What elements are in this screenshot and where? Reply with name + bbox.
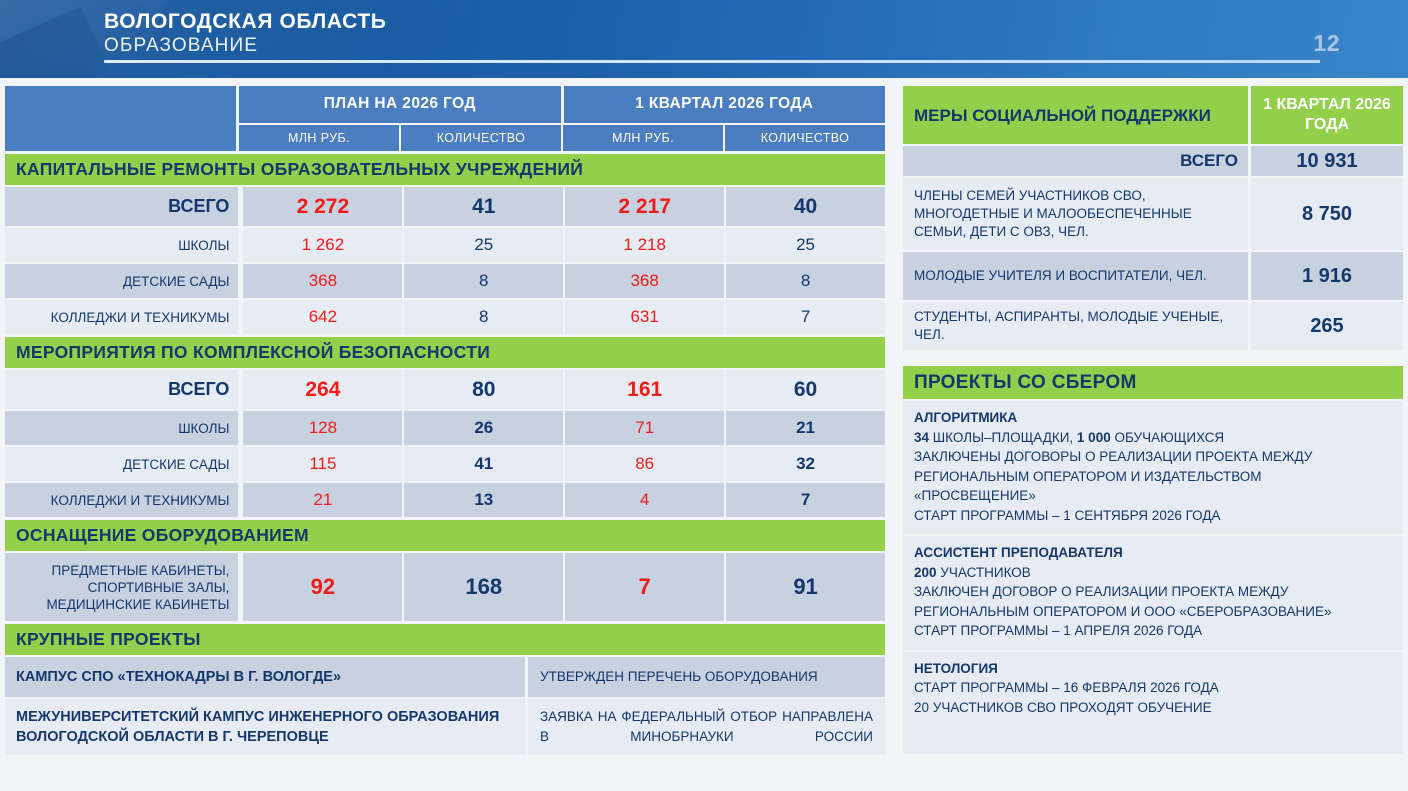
row-label: ШКОЛЫ: [5, 228, 238, 262]
project-name: МЕЖУНИВЕРСИТЕТСКИЙ КАМПУС ИНЖЕНЕРНОГО ОБ…: [5, 699, 525, 755]
row-value: 8 750: [1251, 178, 1403, 250]
sber-project-line: СТАРТ ПРОГРАММЫ – 1 СЕНТЯБРЯ 2026 ГОДА: [914, 506, 1392, 526]
cell-q1-qty: 7: [726, 300, 885, 334]
sber-project-name: АЛГОРИТМИКА: [914, 408, 1392, 428]
sber-stat-schools: 34: [914, 430, 929, 445]
cell-q1-qty: 32: [726, 447, 885, 481]
cell-q1-mln: 161: [565, 370, 724, 409]
table-row: ШКОЛЫ 1 262 25 1 218 25: [5, 228, 885, 262]
cell-plan-qty: 80: [404, 370, 563, 409]
right-panel: МЕРЫ СОЦИАЛЬНОЙ ПОДДЕРЖКИ 1 КВАРТАЛ 2026…: [903, 86, 1403, 754]
table-row: ДЕТСКИЕ САДЫ 115 41 86 32: [5, 447, 885, 481]
row-label-line-3: МЕДИЦИНСКИЕ КАБИНЕТЫ: [46, 596, 229, 613]
section-header-capital-repairs: КАПИТАЛЬНЫЕ РЕМОНТЫ ОБРАЗОВАТЕЛЬНЫХ УЧРЕ…: [5, 154, 885, 185]
section-header-complex-safety: МЕРОПРИЯТИЯ ПО КОМПЛЕКСНОЙ БЕЗОПАСНОСТИ: [5, 337, 885, 368]
subheader-q1-mln: МЛН РУБ.: [563, 125, 723, 151]
sber-project-line: РЕГИОНАЛЬНЫМ ОПЕРАТОРОМ И ИЗДАТЕЛЬСТВОМ: [914, 467, 1392, 487]
cell-plan-qty: 168: [404, 553, 563, 621]
table-group-header-row: ПЛАН НА 2026 ГОД 1 КВАРТАЛ 2026 ГОДА: [239, 86, 885, 123]
row-label: КОЛЛЕДЖИ И ТЕХНИКУМЫ: [5, 483, 238, 517]
sber-project-line: «ПРОСВЕЩЕНИЕ»: [914, 486, 1392, 506]
row-value: 1 916: [1251, 252, 1403, 300]
cell-q1-mln: 4: [565, 483, 724, 517]
table-row: ВСЕГО 2 272 41 2 217 40: [5, 187, 885, 226]
cell-plan-qty: 26: [404, 411, 563, 445]
project-row: КАМПУС СПО «ТЕХНОКАДРЫ В Г. ВОЛОГДЕ» УТВ…: [5, 657, 885, 697]
row-label: ЧЛЕНЫ СЕМЕЙ УЧАСТНИКОВ СВО, МНОГОДЕТНЫЕ …: [903, 178, 1248, 250]
sber-project-line: РЕГИОНАЛЬНЫМ ОПЕРАТОРОМ И ООО «СБЕРОБРАЗ…: [914, 602, 1392, 622]
table-header-corner: [5, 86, 236, 151]
row-label: ПРЕДМЕТНЫЕ КАБИНЕТЫ, СПОРТИВНЫЕ ЗАЛЫ, МЕ…: [5, 553, 238, 621]
section-title: ПРОЕКТЫ СО СБЕРОМ: [903, 372, 1137, 394]
table-header: ПЛАН НА 2026 ГОД 1 КВАРТАЛ 2026 ГОДА МЛН…: [5, 86, 885, 151]
cell-q1-mln: 71: [565, 411, 724, 445]
slide-page-number: 12: [1313, 30, 1340, 57]
sber-project-line: 20 УЧАСТНИКОВ СВО ПРОХОДЯТ ОБУЧЕНИЕ: [914, 698, 1392, 718]
section-header-equipment: ОСНАЩЕНИЕ ОБОРУДОВАНИЕМ: [5, 520, 885, 551]
social-support-header: МЕРЫ СОЦИАЛЬНОЙ ПОДДЕРЖКИ 1 КВАРТАЛ 2026…: [903, 86, 1403, 144]
social-support-row: ЧЛЕНЫ СЕМЕЙ УЧАСТНИКОВ СВО, МНОГОДЕТНЫЕ …: [903, 178, 1403, 250]
cell-plan-qty: 25: [404, 228, 563, 262]
sber-stat-participants: 200: [914, 565, 937, 580]
table-row: КОЛЛЕДЖИ И ТЕХНИКУМЫ 642 8 631 7: [5, 300, 885, 334]
slide-root: ВОЛОГОДСКАЯ ОБЛАСТЬ ОБРАЗОВАНИЕ 12 ПЛАН …: [0, 0, 1408, 791]
group-header-q1: 1 КВАРТАЛ 2026 ГОДА: [564, 86, 886, 123]
sber-stat-tail: ОБУЧАЮЩИХСЯ: [1111, 430, 1224, 445]
table-row: ПРЕДМЕТНЫЕ КАБИНЕТЫ, СПОРТИВНЫЕ ЗАЛЫ, МЕ…: [5, 553, 885, 621]
sber-project-line: СТАРТ ПРОГРАММЫ – 1 АПРЕЛЯ 2026 ГОДА: [914, 621, 1392, 641]
sber-stat-mid: ШКОЛЫ–ПЛОЩАДКИ,: [929, 430, 1077, 445]
sber-stat-students: 1 000: [1077, 430, 1111, 445]
sber-project-card: АССИСТЕНТ ПРЕПОДАВАТЕЛЯ 200 УЧАСТНИКОВ З…: [903, 536, 1403, 650]
sber-project-name: НЕТОЛОГИЯ: [914, 659, 1392, 679]
cell-q1-mln: 631: [565, 300, 724, 334]
cell-q1-qty: 21: [726, 411, 885, 445]
section-title: КАПИТАЛЬНЫЕ РЕМОНТЫ ОБРАЗОВАТЕЛЬНЫХ УЧРЕ…: [5, 159, 583, 180]
cell-q1-mln: 368: [565, 264, 724, 298]
table-row: ДЕТСКИЕ САДЫ 368 8 368 8: [5, 264, 885, 298]
social-support-row: МОЛОДЫЕ УЧИТЕЛЯ И ВОСПИТАТЕЛИ, ЧЕЛ. 1 91…: [903, 252, 1403, 300]
cell-plan-mln: 2 272: [243, 187, 402, 226]
subheader-q1-qty: КОЛИЧЕСТВО: [725, 125, 885, 151]
cell-plan-mln: 642: [243, 300, 402, 334]
table-header-groups: ПЛАН НА 2026 ГОД 1 КВАРТАЛ 2026 ГОДА МЛН…: [239, 86, 885, 151]
cell-plan-mln: 264: [243, 370, 402, 409]
header-titles: ВОЛОГОДСКАЯ ОБЛАСТЬ ОБРАЗОВАНИЕ: [104, 9, 387, 58]
row-label: КОЛЛЕДЖИ И ТЕХНИКУМЫ: [5, 300, 238, 334]
row-value: 265: [1251, 302, 1403, 350]
row-label: ДЕТСКИЕ САДЫ: [5, 264, 238, 298]
table-row: ШКОЛЫ 128 26 71 21: [5, 411, 885, 445]
cell-plan-qty: 41: [404, 447, 563, 481]
row-label: ДЕТСКИЕ САДЫ: [5, 447, 238, 481]
project-status: ЗАЯВКА НА ФЕДЕРАЛЬНЫЙ ОТБОР НАПРАВЛЕНА В…: [528, 699, 885, 755]
cell-q1-qty: 60: [726, 370, 885, 409]
cell-plan-mln: 1 262: [243, 228, 402, 262]
sber-project-name: АССИСТЕНТ ПРЕПОДАВАТЕЛЯ: [914, 543, 1392, 563]
section-header-major-projects: КРУПНЫЕ ПРОЕКТЫ: [5, 624, 885, 655]
slide-header: ВОЛОГОДСКАЯ ОБЛАСТЬ ОБРАЗОВАНИЕ 12: [0, 0, 1408, 78]
table-subheader-row: МЛН РУБ. КОЛИЧЕСТВО МЛН РУБ. КОЛИЧЕСТВО: [239, 125, 885, 151]
cell-q1-qty: 91: [726, 553, 885, 621]
education-metrics-table: ПЛАН НА 2026 ГОД 1 КВАРТАЛ 2026 ГОДА МЛН…: [5, 86, 885, 755]
row-label: СТУДЕНТЫ, АСПИРАНТЫ, МОЛОДЫЕ УЧЕНЫЕ, ЧЕЛ…: [903, 302, 1248, 350]
sber-panel-padding: [903, 726, 1403, 754]
group-header-plan: ПЛАН НА 2026 ГОД: [239, 86, 561, 123]
cell-q1-mln: 1 218: [565, 228, 724, 262]
cell-plan-mln: 21: [243, 483, 402, 517]
row-label: ВСЕГО: [5, 187, 238, 226]
row-label: ВСЕГО: [5, 370, 238, 409]
row-label: ШКОЛЫ: [5, 411, 238, 445]
table-row: ВСЕГО 264 80 161 60: [5, 370, 885, 409]
table-row: КОЛЛЕДЖИ И ТЕХНИКУМЫ 21 13 4 7: [5, 483, 885, 517]
social-support-value-header: 1 КВАРТАЛ 2026 ГОДА: [1251, 86, 1403, 144]
cell-q1-qty: 40: [726, 187, 885, 226]
cell-plan-qty: 8: [404, 300, 563, 334]
sber-project-line: СТАРТ ПРОГРАММЫ – 16 ФЕВРАЛЯ 2026 ГОДА: [914, 678, 1392, 698]
project-name: КАМПУС СПО «ТЕХНОКАДРЫ В Г. ВОЛОГДЕ»: [5, 657, 525, 697]
cell-q1-qty: 25: [726, 228, 885, 262]
sber-project-line: ЗАКЛЮЧЕН ДОГОВОР О РЕАЛИЗАЦИИ ПРОЕКТА МЕ…: [914, 582, 1392, 602]
section-title: ОСНАЩЕНИЕ ОБОРУДОВАНИЕМ: [5, 525, 309, 546]
sber-project-stat: 200 УЧАСТНИКОВ: [914, 563, 1392, 583]
row-label-line-2: СПОРТИВНЫЕ ЗАЛЫ,: [46, 579, 229, 596]
subheader-plan-qty: КОЛИЧЕСТВО: [401, 125, 561, 151]
cell-q1-mln: 2 217: [565, 187, 724, 226]
section-header-sber-projects: ПРОЕКТЫ СО СБЕРОМ: [903, 366, 1403, 399]
project-status: УТВЕРЖДЕН ПЕРЕЧЕНЬ ОБОРУДОВАНИЯ: [528, 657, 885, 697]
cell-plan-qty: 8: [404, 264, 563, 298]
row-label: ВСЕГО: [903, 146, 1248, 176]
cell-plan-mln: 128: [243, 411, 402, 445]
row-label-line-1: ПРЕДМЕТНЫЕ КАБИНЕТЫ,: [46, 562, 229, 579]
cell-q1-qty: 7: [726, 483, 885, 517]
cell-q1-mln: 86: [565, 447, 724, 481]
header-divider-rule: [104, 60, 1320, 63]
cell-plan-mln: 368: [243, 264, 402, 298]
row-label: МОЛОДЫЕ УЧИТЕЛЯ И ВОСПИТАТЕЛИ, ЧЕЛ.: [903, 252, 1248, 300]
header-topic-subtitle: ОБРАЗОВАНИЕ: [104, 34, 387, 58]
cell-plan-mln: 115: [243, 447, 402, 481]
cell-q1-qty: 8: [726, 264, 885, 298]
sber-project-card: АЛГОРИТМИКА 34 ШКОЛЫ–ПЛОЩАДКИ, 1 000 ОБУ…: [903, 401, 1403, 534]
sber-project-line: ЗАКЛЮЧЕНЫ ДОГОВОРЫ О РЕАЛИЗАЦИИ ПРОЕКТА …: [914, 447, 1392, 467]
cell-q1-mln: 7: [565, 553, 724, 621]
cell-plan-mln: 92: [243, 553, 402, 621]
section-title: КРУПНЫЕ ПРОЕКТЫ: [5, 629, 201, 650]
row-value: 10 931: [1251, 146, 1403, 176]
social-support-title: МЕРЫ СОЦИАЛЬНОЙ ПОДДЕРЖКИ: [903, 86, 1248, 144]
cell-plan-qty: 13: [404, 483, 563, 517]
sber-stat-mid: УЧАСТНИКОВ: [937, 565, 1031, 580]
project-row: МЕЖУНИВЕРСИТЕТСКИЙ КАМПУС ИНЖЕНЕРНОГО ОБ…: [5, 699, 885, 755]
header-region-title: ВОЛОГОДСКАЯ ОБЛАСТЬ: [104, 9, 387, 34]
cell-plan-qty: 41: [404, 187, 563, 226]
sber-project-stat: 34 ШКОЛЫ–ПЛОЩАДКИ, 1 000 ОБУЧАЮЩИХСЯ: [914, 428, 1392, 448]
subheader-plan-mln: МЛН РУБ.: [239, 125, 399, 151]
social-support-row: СТУДЕНТЫ, АСПИРАНТЫ, МОЛОДЫЕ УЧЕНЫЕ, ЧЕЛ…: [903, 302, 1403, 350]
social-support-row: ВСЕГО 10 931: [903, 146, 1403, 176]
sber-project-card: НЕТОЛОГИЯ СТАРТ ПРОГРАММЫ – 16 ФЕВРАЛЯ 2…: [903, 652, 1403, 727]
section-title: МЕРОПРИЯТИЯ ПО КОМПЛЕКСНОЙ БЕЗОПАСНОСТИ: [5, 342, 490, 363]
